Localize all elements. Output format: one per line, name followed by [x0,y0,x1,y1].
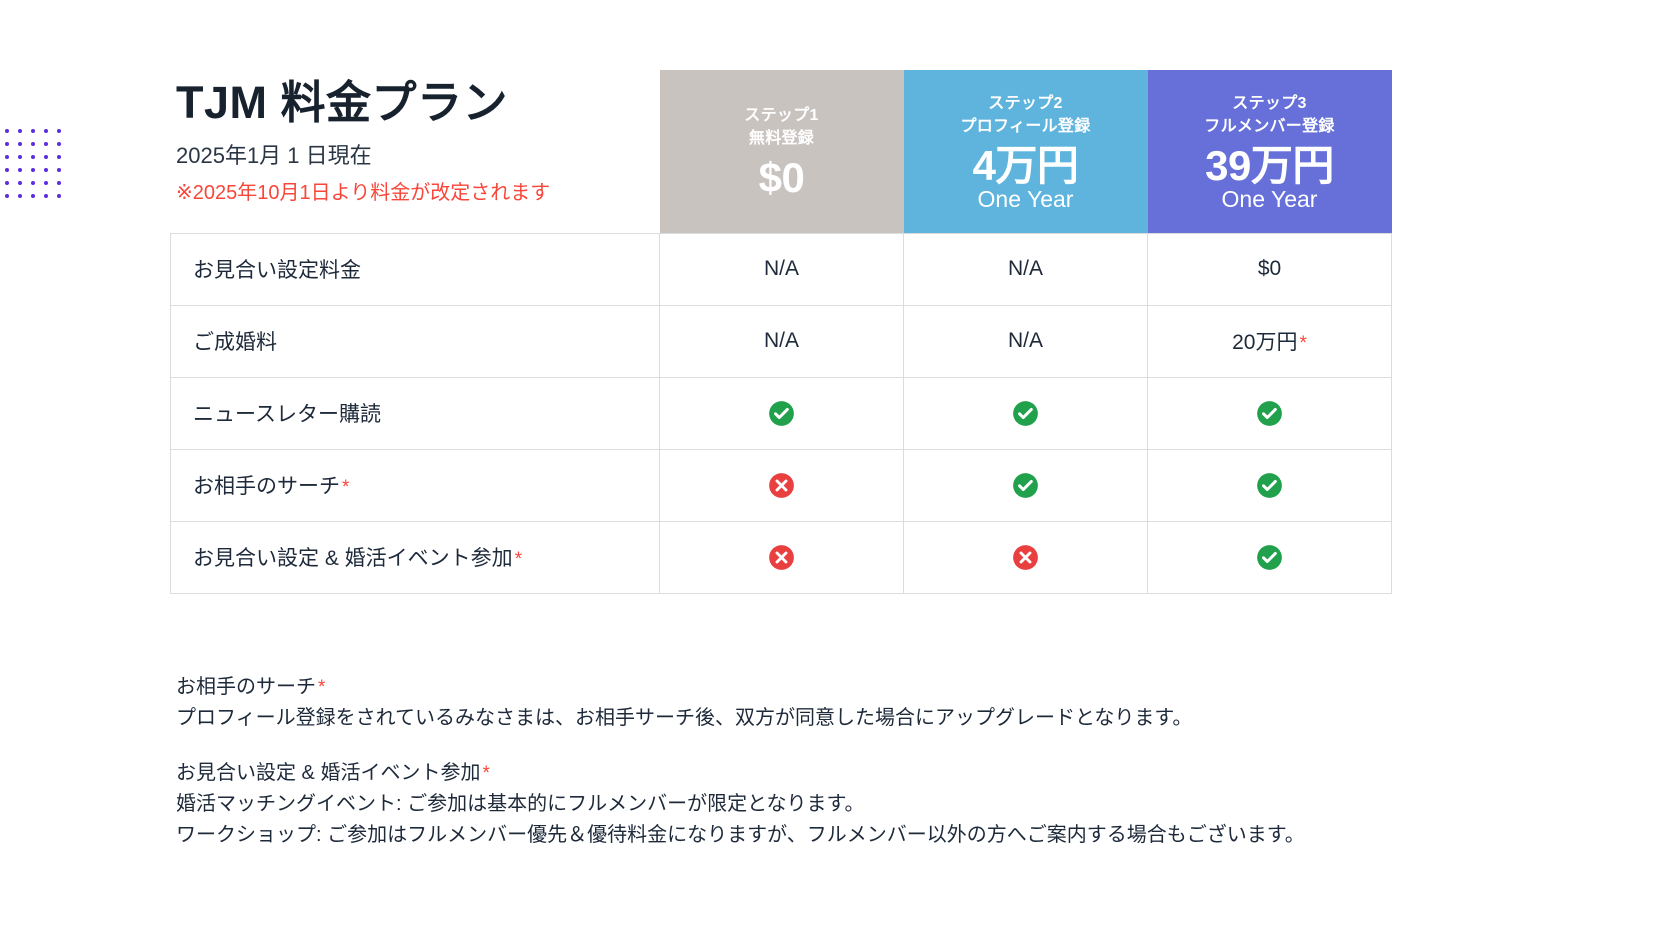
table-row: お見合い設定料金 N/A N/A $0 [171,233,1392,305]
footnote-heading: お見合い設定 & 婚活イベント参加* [176,758,1576,789]
feature-value-plan3 [1148,521,1392,593]
footnote-heading-text: お相手のサーチ [176,676,316,698]
feature-value-plan1 [660,521,904,593]
footnote-block-search: お相手のサーチ* プロフィール登録をされているみなさまは、お相手サーチ後、双方が… [176,672,1576,734]
asterisk-mark: * [480,763,489,784]
feature-label-text: お見合い設定 & 婚活イベント参加 [193,547,513,570]
table-row: お見合い設定 & 婚活イベント参加* [171,521,1392,593]
plan-step-label: ステップ3 [1148,92,1392,115]
feature-label-text: ニュースレター購読 [193,403,381,426]
value-text: N/A [1008,257,1043,280]
feature-value-plan1: N/A [660,305,904,377]
feature-value-plan1 [660,377,904,449]
pricing-page: TJM 料金プラン 2025年1月 1 日現在 ※2025年10月1日より料金が… [0,0,1680,945]
plan-name-label: プロフィール登録 [904,115,1148,138]
plan-price: 39万円 [1148,143,1392,188]
feature-value-plan3: $0 [1148,233,1392,305]
feature-label-text: お相手のサーチ [193,475,340,498]
table-row: お相手のサーチ* [171,449,1392,521]
cross-circle-icon [1012,544,1039,571]
check-circle-icon [1256,472,1283,499]
table-row: ご成婚料 N/A N/A 20万円* [171,305,1392,377]
cross-circle-icon [768,472,795,499]
feature-label: お見合い設定 & 婚活イベント参加* [171,521,660,593]
plan-name-label: 無料登録 [660,127,904,150]
footnote-heading: お相手のサーチ* [176,672,1576,703]
cross-circle-icon [768,544,795,571]
value-text: N/A [764,329,799,352]
value-text: $0 [1258,257,1281,280]
plan-header-3: ステップ3 フルメンバー登録 39万円 One Year [1148,70,1392,233]
plan-header-1: ステップ1 無料登録 $0 [660,70,904,233]
plan-price: $0 [660,155,904,200]
feature-value-plan2 [904,377,1148,449]
value-text: 20万円 [1232,331,1297,354]
plan-name-label: フルメンバー登録 [1148,115,1392,138]
footnote-heading-text: お見合い設定 & 婚活イベント参加 [176,762,480,784]
asterisk-mark [361,261,363,282]
feature-value-plan2: N/A [904,305,1148,377]
footnote-line: ワークショップ: ご参加はフルメンバー優先＆優待料金になりますが、フルメンバー以… [176,820,1576,851]
asterisk-mark [381,405,383,426]
check-circle-icon [1256,400,1283,427]
value-text: N/A [1008,329,1043,352]
header-spacer-cell [171,70,660,233]
feature-label-text: お見合い設定料金 [193,259,361,282]
feature-value-plan3 [1148,449,1392,521]
check-circle-icon [1012,400,1039,427]
table-header-row: ステップ1 無料登録 $0 ステップ2 プロフィール登録 4万円 One Yea… [171,70,1392,233]
table-row: ニュースレター購読 [171,377,1392,449]
feature-label: ニュースレター購読 [171,377,660,449]
dot-grid-decoration [4,128,74,208]
value-text: N/A [764,257,799,280]
feature-value-plan3: 20万円* [1148,305,1392,377]
plan-term: One Year [1148,187,1392,211]
feature-value-plan3 [1148,377,1392,449]
check-circle-icon [1012,472,1039,499]
plan-header-2: ステップ2 プロフィール登録 4万円 One Year [904,70,1148,233]
feature-value-plan2 [904,449,1148,521]
asterisk-mark: * [340,477,349,498]
asterisk-mark: * [513,549,522,570]
footnote-line: プロフィール登録をされているみなさまは、お相手サーチ後、双方が同意した場合にアッ… [176,703,1576,734]
plan-step-label: ステップ1 [660,104,904,127]
pricing-table: ステップ1 無料登録 $0 ステップ2 プロフィール登録 4万円 One Yea… [170,70,1392,594]
feature-value-plan2: N/A [904,233,1148,305]
asterisk-mark: * [1297,333,1306,354]
feature-label: ご成婚料 [171,305,660,377]
check-circle-icon [1256,544,1283,571]
plan-step-label: ステップ2 [904,92,1148,115]
feature-value-plan1 [660,449,904,521]
footnote-line: 婚活マッチングイベント: ご参加は基本的にフルメンバーが限定となります。 [176,789,1576,820]
plan-price: 4万円 [904,143,1148,188]
feature-label: お相手のサーチ* [171,449,660,521]
table-body: お見合い設定料金 N/A N/A $0 ご成婚料 N/A [171,233,1392,593]
asterisk-mark [277,333,279,354]
asterisk-mark: * [316,677,325,698]
footnote-block-events: お見合い設定 & 婚活イベント参加* 婚活マッチングイベント: ご参加は基本的に… [176,758,1576,851]
feature-value-plan1: N/A [660,233,904,305]
check-circle-icon [768,400,795,427]
footnotes-section: お相手のサーチ* プロフィール登録をされているみなさまは、お相手サーチ後、双方が… [176,672,1576,851]
plan-term: One Year [904,187,1148,211]
feature-label: お見合い設定料金 [171,233,660,305]
feature-label-text: ご成婚料 [193,331,277,354]
feature-value-plan2 [904,521,1148,593]
